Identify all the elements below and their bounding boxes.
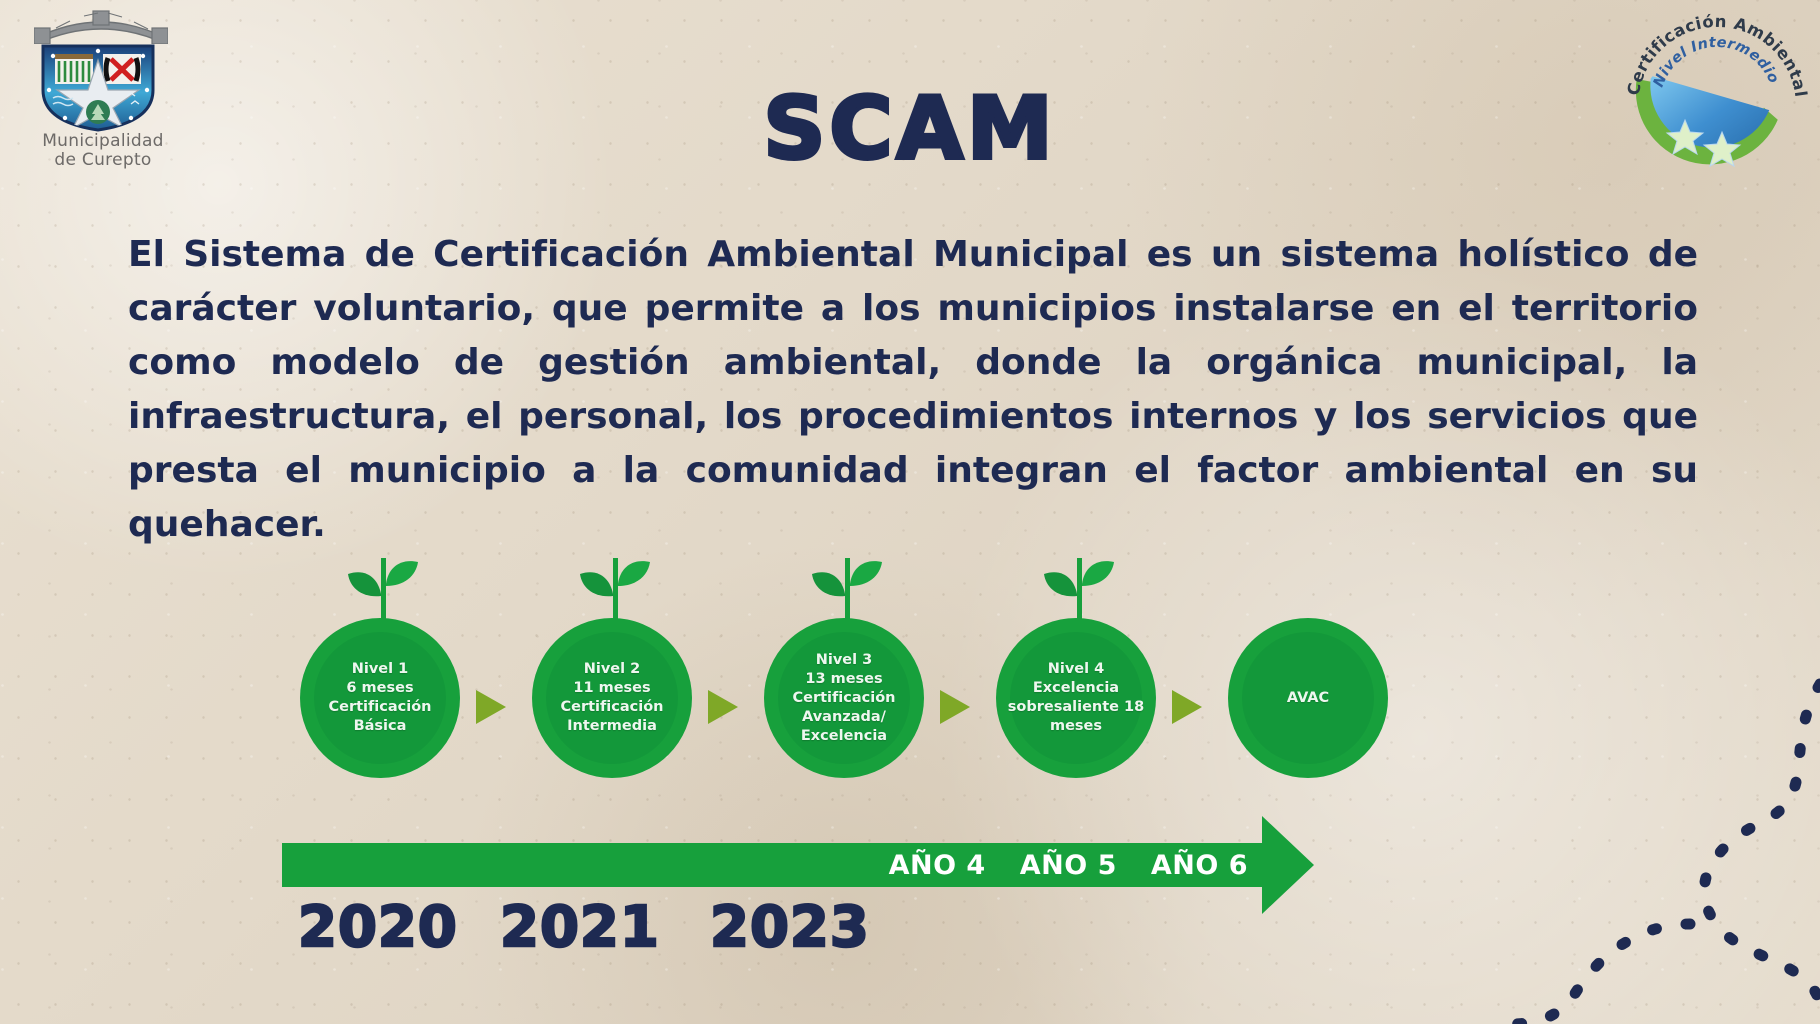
diagram-node-nivel-1[interactable]: Nivel 1 6 meses Certificación Básica [300,618,460,778]
flow-arrow-4 [1172,690,1202,724]
node-label: Nivel 1 6 meses Certificación Básica [310,660,450,736]
node-label: Nivel 4 Excelencia sobresaliente 18 mese… [1006,660,1146,736]
scam-presentation-slide: Municipalidad de Curepto Certi [0,0,1820,1024]
diagram-node-nivel-2[interactable]: Nivel 2 11 meses Certificación Intermedi… [532,618,692,778]
year-2021: 2021 [500,895,660,960]
diagram-node-nivel-4[interactable]: Nivel 4 Excelencia sobresaliente 18 mese… [996,618,1156,778]
year-2020: 2020 [298,895,458,960]
flow-arrow-1 [476,690,506,724]
node-circle: Nivel 2 11 meses Certificación Intermedi… [532,618,692,778]
node-label: Nivel 2 11 meses Certificación Intermedi… [542,660,682,736]
slide-body-text: El Sistema de Certificación Ambiental Mu… [128,228,1698,552]
flow-arrow-2 [708,690,738,724]
node-circle: Nivel 4 Excelencia sobresaliente 18 mese… [996,618,1156,778]
year-2023: 2023 [710,895,870,960]
node-label: AVAC [1238,689,1378,708]
node-label: Nivel 3 13 meses Certificación Avanzada/… [774,651,914,746]
timeline-year-numbers: 2020 2021 2023 [282,895,1282,965]
crest-battlement-icon [34,8,168,44]
diagram-node-avac[interactable]: AVAC [1228,618,1388,778]
diagram-node-nivel-3[interactable]: Nivel 3 13 meses Certificación Avanzada/… [764,618,924,778]
node-circle: Nivel 1 6 meses Certificación Básica [300,618,460,778]
timeline-bar [282,843,1262,887]
certification-levels-diagram: Nivel 1 6 meses Certificación Básica Niv… [300,548,1480,798]
flow-arrow-3 [940,690,970,724]
slide-title: SCAM [0,86,1820,172]
node-circle: AVAC [1228,618,1388,778]
node-circle: Nivel 3 13 meses Certificación Avanzada/… [764,618,924,778]
